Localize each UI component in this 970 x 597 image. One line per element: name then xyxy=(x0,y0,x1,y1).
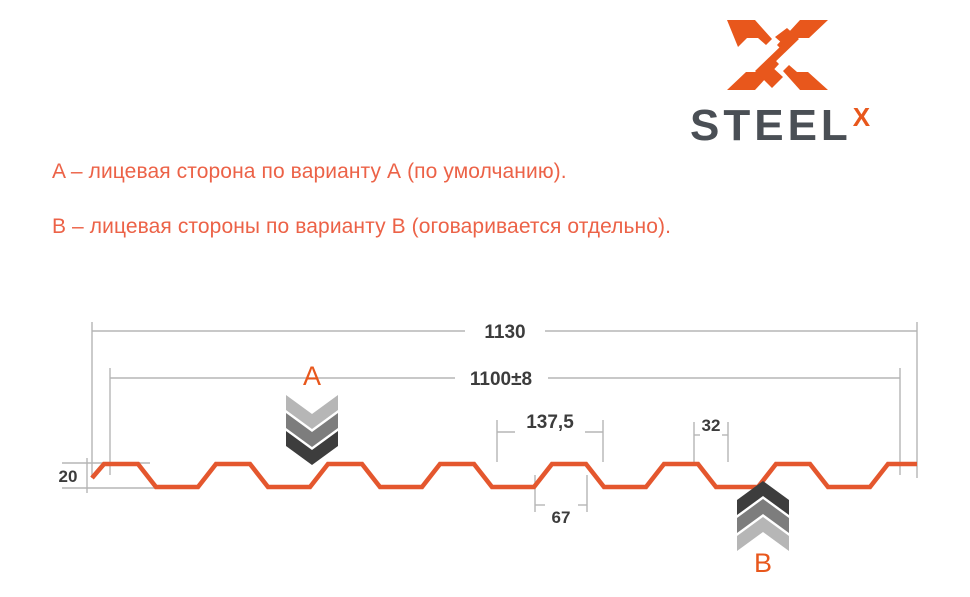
dimension-label-1100: 1100±8 xyxy=(470,369,532,390)
corrugated-profile-line xyxy=(92,464,917,487)
wordmark-steel: STEEL xyxy=(690,101,852,150)
dimension-overall-width xyxy=(92,322,917,478)
caption-variant-b: B – лицевая стороны по варианту B (огова… xyxy=(52,215,671,239)
marker-b-chevrons xyxy=(737,481,789,551)
wordmark-superscript-x: X xyxy=(853,102,870,132)
dimension-label-1130: 1130 xyxy=(484,322,525,343)
steelx-wordmark: STEELX xyxy=(690,104,905,148)
drawing-page: STEELX A – лицевая сторона по варианту А… xyxy=(0,0,970,597)
dimension-label-137-5: 137,5 xyxy=(526,412,574,433)
dimension-label-20: 20 xyxy=(59,467,78,486)
profile-technical-drawing: 1130 1100±8 137,5 xyxy=(0,300,970,590)
dimension-label-32: 32 xyxy=(702,416,721,435)
marker-a-letter: A xyxy=(303,361,321,391)
steelx-x-monogram-icon xyxy=(725,14,830,96)
caption-variant-a: A – лицевая сторона по варианту А (по ум… xyxy=(52,160,567,184)
steelx-logo: STEELX xyxy=(690,14,905,149)
dimension-valley-flat xyxy=(535,475,587,512)
dimension-label-67: 67 xyxy=(552,508,571,527)
marker-variant-b: B xyxy=(737,481,789,578)
marker-variant-a: A xyxy=(286,361,338,465)
marker-a-chevrons xyxy=(286,395,338,465)
marker-b-letter: B xyxy=(754,548,772,578)
